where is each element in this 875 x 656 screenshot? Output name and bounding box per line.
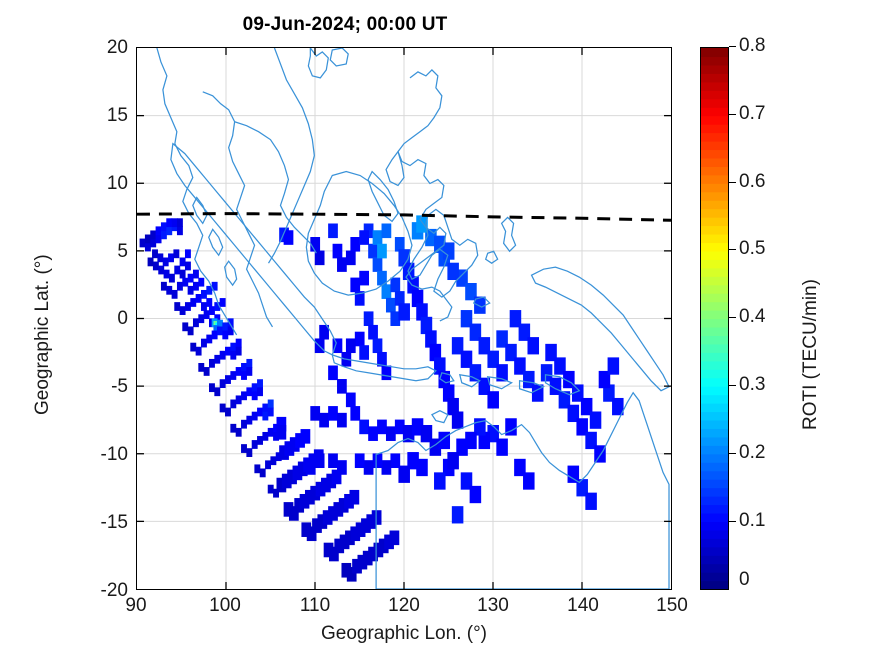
colorbar-label-1: 0.7	[739, 104, 765, 124]
colorbar-tick-1	[729, 114, 736, 115]
colorbar-tick-3	[729, 249, 736, 250]
colorbar-tick-6	[729, 453, 736, 454]
ytick-label-3: 5	[68, 241, 128, 261]
x-axis-label: Geographic Lon. (°)	[136, 623, 672, 645]
ytick-label-6: -10	[68, 444, 128, 464]
roti-data-cells	[140, 215, 624, 581]
map-plot-area	[136, 47, 672, 590]
colorbar-label-7: 0.1	[739, 511, 765, 531]
colorbar-gradient	[701, 48, 728, 589]
y-axis-label: Geographic Lat. (°)	[32, 254, 54, 415]
ytick-label-0: 20	[68, 37, 128, 57]
colorbar-tick-2	[729, 182, 736, 183]
xtick-label-2: 110	[280, 595, 350, 617]
colorbar-tick-0	[729, 46, 736, 47]
colorbar-label-2: 0.6	[739, 172, 765, 192]
xtick-label-4: 130	[458, 595, 528, 617]
xtick-label-1: 100	[190, 595, 260, 617]
ytick-label-7: -15	[68, 512, 128, 532]
ytick-label-1: 15	[68, 105, 128, 125]
colorbar-label-6: 0.2	[739, 443, 765, 463]
colorbar-label-8: 0	[739, 570, 750, 590]
ytick-label-2: 10	[68, 173, 128, 193]
xtick-label-5: 140	[548, 595, 618, 617]
figure-canvas: 09-Jun-2024; 00:00 UT	[0, 0, 875, 656]
colorbar-axis-label: ROTI (TECU/min)	[800, 279, 822, 430]
colorbar-label-5: 0.3	[739, 375, 765, 395]
map-canvas	[137, 48, 671, 589]
xtick-label-6: 150	[637, 595, 707, 617]
ytick-label-5: -5	[68, 376, 128, 396]
colorbar	[700, 47, 729, 590]
ytick-label-4: 0	[68, 308, 128, 328]
colorbar-label-0: 0.8	[739, 36, 765, 56]
chart-title: 09-Jun-2024; 00:00 UT	[0, 14, 690, 36]
colorbar-tick-5	[729, 385, 736, 386]
colorbar-label-4: 0.4	[739, 307, 765, 327]
colorbar-tick-7	[729, 521, 736, 522]
xtick-label-3: 120	[369, 595, 439, 617]
ytick-label-8: -20	[68, 580, 128, 600]
colorbar-tick-4	[729, 317, 736, 318]
colorbar-label-3: 0.5	[739, 239, 765, 259]
